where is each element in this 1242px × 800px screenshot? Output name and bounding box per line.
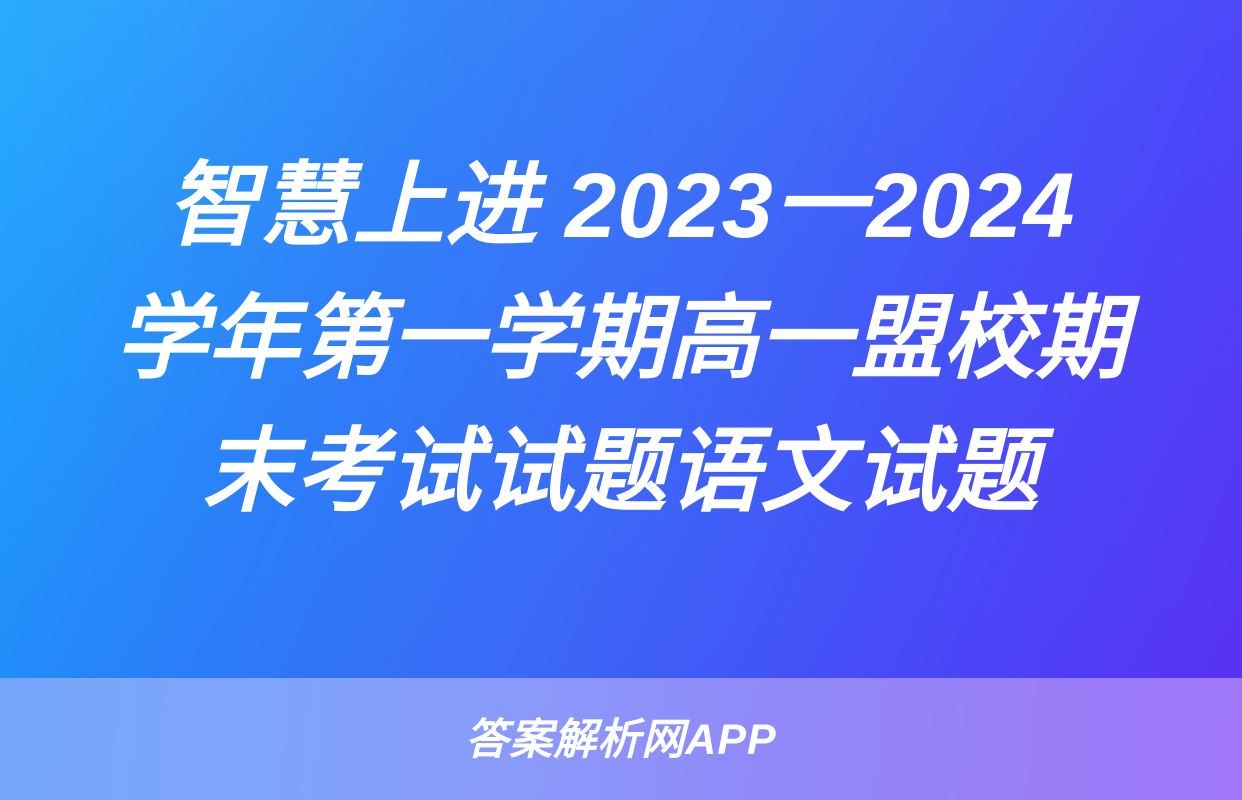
cover-page: 智慧上进 2023一2024 学年第一学期高一盟校期 末考试试题语文试题 答案解… bbox=[0, 0, 1242, 800]
page-title: 智慧上进 2023一2024 学年第一学期高一盟校期 末考试试题语文试题 bbox=[0, 0, 1242, 678]
app-watermark-label: 答案解析网APP bbox=[465, 719, 776, 762]
title-line-1: 智慧上进 2023一2024 bbox=[52, 140, 1190, 273]
footer-watermark-band: 答案解析网APP bbox=[0, 678, 1242, 800]
title-line-3: 末考试试题语文试题 bbox=[52, 406, 1190, 539]
hero-gradient-panel: 智慧上进 2023一2024 学年第一学期高一盟校期 末考试试题语文试题 bbox=[0, 0, 1242, 678]
title-line-2: 学年第一学期高一盟校期 bbox=[52, 273, 1190, 406]
